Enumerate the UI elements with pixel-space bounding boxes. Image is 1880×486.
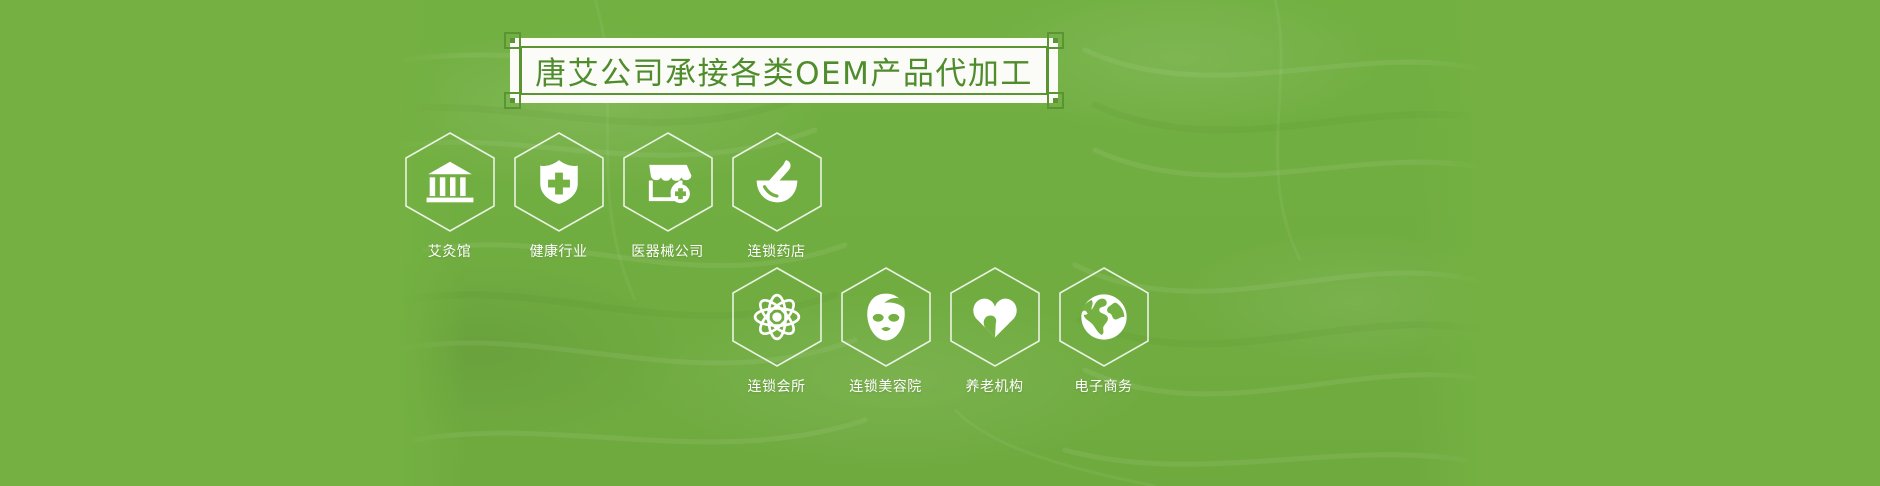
hexagon-frame: [838, 265, 934, 369]
hexagon-frame: [511, 130, 607, 234]
atom-flower-icon: [752, 292, 802, 342]
hexagon-frame: [729, 130, 825, 234]
ornament-corner-bottom-left-icon: [504, 92, 521, 109]
category-row-2: 连锁会所 连锁美容院: [722, 265, 1158, 396]
category-label: 连锁会所: [748, 376, 806, 396]
category-item-elderly-care[interactable]: 养老机构: [940, 265, 1049, 396]
globe-icon: [1079, 292, 1129, 342]
ornament-corner-top-right-icon: [1047, 32, 1064, 49]
hexagon-frame: [729, 265, 825, 369]
storefront-plus-icon: [643, 157, 693, 207]
ornament-corner-top-left-icon: [504, 32, 521, 49]
page-title: 唐艾公司承接各类OEM产品代加工: [535, 48, 1033, 93]
heart-ribbon-icon: [970, 292, 1020, 342]
category-item-moxibustion-hall[interactable]: 艾灸馆: [395, 130, 504, 261]
category-row-1: 艾灸馆 健康行业: [395, 130, 831, 261]
panel-right-fade: [1415, 0, 1485, 486]
category-label: 连锁药店: [748, 241, 806, 261]
category-label: 连锁美容院: [849, 376, 922, 396]
shield-plus-icon: [534, 157, 584, 207]
bank-building-icon: [425, 157, 475, 207]
category-label: 养老机构: [966, 376, 1024, 396]
category-item-chain-club[interactable]: 连锁会所: [722, 265, 831, 396]
category-label: 艾灸馆: [428, 241, 472, 261]
title-banner-box: 唐艾公司承接各类OEM产品代加工: [510, 38, 1058, 103]
hexagon-frame: [620, 130, 716, 234]
hexagon-frame: [402, 130, 498, 234]
category-item-medical-device-company[interactable]: 医器械公司: [613, 130, 722, 261]
hexagon-frame: [947, 265, 1043, 369]
category-label: 健康行业: [530, 241, 588, 261]
category-label: 医器械公司: [631, 241, 704, 261]
promo-banner: 唐艾公司承接各类OEM产品代加工: [0, 0, 1880, 486]
category-item-ecommerce[interactable]: 电子商务: [1049, 265, 1158, 396]
category-item-chain-pharmacy[interactable]: 连锁药店: [722, 130, 831, 261]
hexagon-frame: [1056, 265, 1152, 369]
facial-mask-icon: [861, 292, 911, 342]
mortar-pestle-icon: [752, 157, 802, 207]
category-label: 电子商务: [1075, 376, 1133, 396]
ornament-corner-bottom-right-icon: [1047, 92, 1064, 109]
category-item-health-industry[interactable]: 健康行业: [504, 130, 613, 261]
category-item-chain-beauty-salon[interactable]: 连锁美容院: [831, 265, 940, 396]
